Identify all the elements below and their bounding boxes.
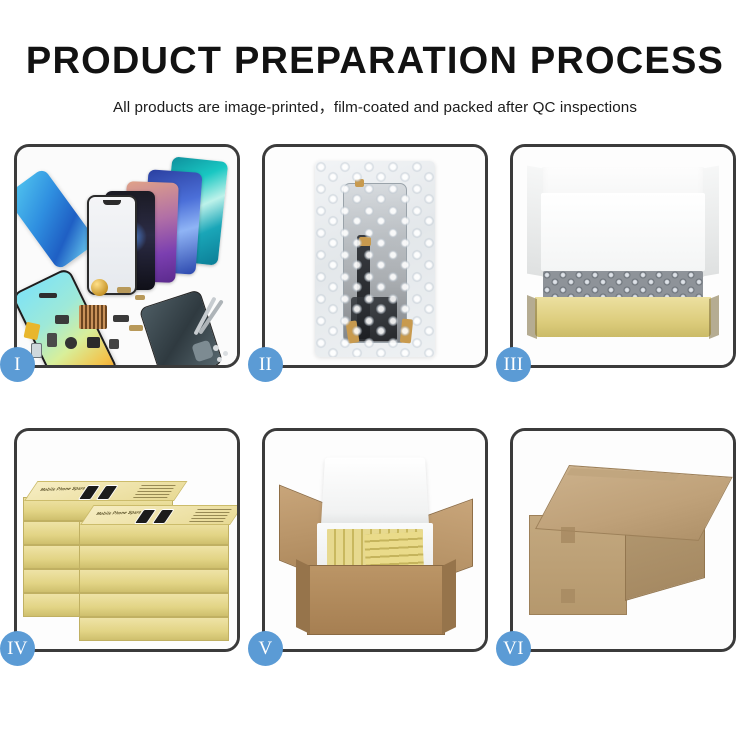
process-step-panel-1[interactable]: I bbox=[14, 144, 240, 368]
step-4-image: Mobile Phone Spare Parts Mobile Phone Sp… bbox=[17, 431, 237, 649]
phone-screen-blue bbox=[17, 168, 97, 271]
process-step-panel-4[interactable]: Mobile Phone Spare Parts Mobile Phone Sp… bbox=[14, 428, 240, 652]
spare-part bbox=[113, 315, 129, 322]
step-badge-6: VI bbox=[496, 631, 531, 666]
box-spec-lines bbox=[133, 485, 176, 498]
step-badge-2: II bbox=[248, 347, 283, 382]
bubble-texture bbox=[315, 161, 435, 357]
yellow-box-base bbox=[535, 297, 711, 337]
spare-part bbox=[87, 337, 100, 348]
carton-body bbox=[307, 565, 445, 635]
foam-insert-lid bbox=[321, 457, 429, 527]
spare-part bbox=[129, 325, 143, 331]
spare-part bbox=[135, 295, 145, 300]
process-step-grid: I II III bbox=[14, 144, 737, 689]
stacked-box bbox=[79, 569, 229, 593]
screw-part bbox=[223, 351, 228, 356]
step-badge-1: I bbox=[0, 347, 35, 382]
step-badge-3: III bbox=[496, 347, 531, 382]
spare-part bbox=[65, 337, 77, 349]
grey-bubble-wrap bbox=[543, 271, 703, 299]
stacked-box: Mobile Phone Spare Parts bbox=[79, 521, 229, 545]
step-2-image bbox=[265, 147, 485, 365]
step-5-image bbox=[265, 431, 485, 649]
page-header: PRODUCT PREPARATION PROCESS All products… bbox=[0, 0, 750, 117]
bubble-wrap-bag bbox=[315, 161, 435, 357]
stacked-box bbox=[79, 593, 229, 617]
spare-part bbox=[39, 293, 57, 298]
step-badge-5: V bbox=[248, 631, 283, 666]
yellow-boxes-inside bbox=[364, 532, 424, 569]
box-lid-face: Mobile Phone Spare Parts bbox=[80, 505, 237, 525]
screw-grid-part bbox=[79, 305, 107, 329]
carton-seam bbox=[561, 527, 575, 543]
box-lid-face: Mobile Phone Spare Parts bbox=[24, 481, 187, 501]
box-spec-lines bbox=[189, 509, 232, 522]
screw-part bbox=[213, 345, 219, 351]
page-title: PRODUCT PREPARATION PROCESS bbox=[0, 0, 750, 83]
foam-sheet bbox=[541, 193, 705, 271]
step-6-image bbox=[513, 431, 733, 649]
step-1-image bbox=[17, 147, 237, 365]
screw-part bbox=[217, 357, 222, 362]
process-step-panel-2[interactable]: II bbox=[262, 144, 488, 368]
process-step-panel-6[interactable]: VI bbox=[510, 428, 736, 652]
carton-seam bbox=[561, 589, 575, 603]
process-step-panel-3[interactable]: III bbox=[510, 144, 736, 368]
step-3-image bbox=[513, 147, 733, 365]
spare-part bbox=[47, 333, 57, 347]
copper-coil-part bbox=[91, 279, 108, 296]
spare-part bbox=[117, 287, 131, 293]
spare-part bbox=[55, 315, 69, 324]
page-subtitle: All products are image-printed，film-coat… bbox=[0, 83, 750, 117]
spare-part bbox=[109, 339, 119, 349]
process-step-panel-5[interactable]: V bbox=[262, 428, 488, 652]
stacked-box bbox=[79, 617, 229, 641]
stacked-box bbox=[79, 545, 229, 569]
box-stack: Mobile Phone Spare Parts Mobile Phone Sp… bbox=[23, 461, 235, 643]
step-badge-4: IV bbox=[0, 631, 35, 666]
